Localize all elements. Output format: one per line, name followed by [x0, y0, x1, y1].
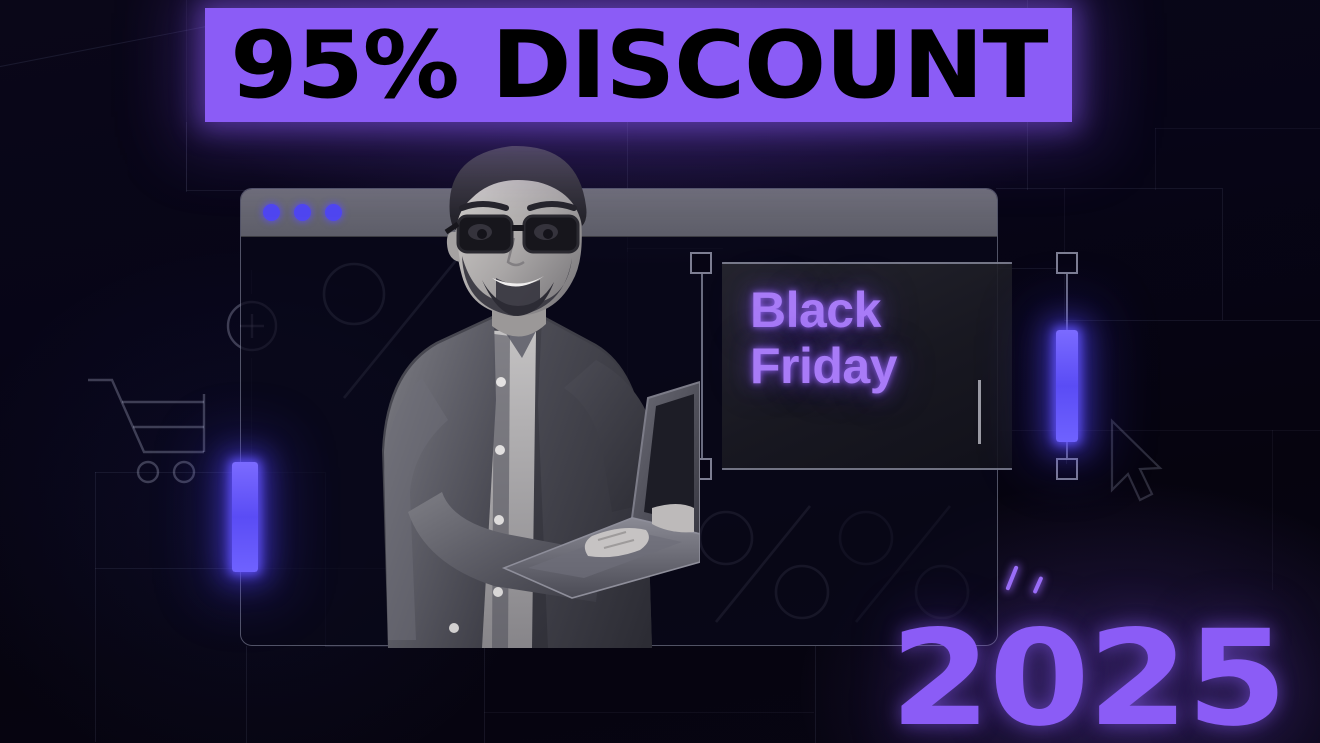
selection-handle-top-right[interactable] [1056, 252, 1078, 274]
browser-dot-1 [263, 204, 280, 221]
discount-banner: 95% DISCOUNT [205, 8, 1072, 122]
blue-accent-bar-right [1056, 330, 1078, 442]
selection-line-top [722, 262, 1012, 264]
sparkle-2 [1033, 576, 1044, 594]
year-badge: 2025 [890, 602, 1285, 743]
selection-handle-top-left[interactable] [690, 252, 712, 274]
shopping-cart-icon [86, 374, 208, 482]
sparkle-1 [1005, 565, 1018, 591]
promo-banner-stage: Black Friday 95% DISCOUNT 2025 [0, 0, 1320, 743]
browser-titlebar [241, 189, 997, 237]
selection-line-bottom [722, 468, 1012, 470]
selection-handle-bottom-left[interactable] [690, 458, 712, 480]
mouse-pointer-icon [1108, 418, 1166, 504]
selection-line-left [701, 262, 703, 470]
black-friday-text: Black Friday [750, 282, 1000, 394]
black-friday-line-1: Black [750, 282, 1000, 338]
blue-accent-bar-left [232, 462, 258, 572]
text-caret [978, 380, 981, 444]
selection-handle-bottom-right[interactable] [1056, 458, 1078, 480]
browser-dot-3 [325, 204, 342, 221]
discount-banner-text: 95% DISCOUNT [230, 11, 1047, 119]
black-friday-line-2: Friday [750, 338, 1000, 394]
browser-dot-2 [294, 204, 311, 221]
